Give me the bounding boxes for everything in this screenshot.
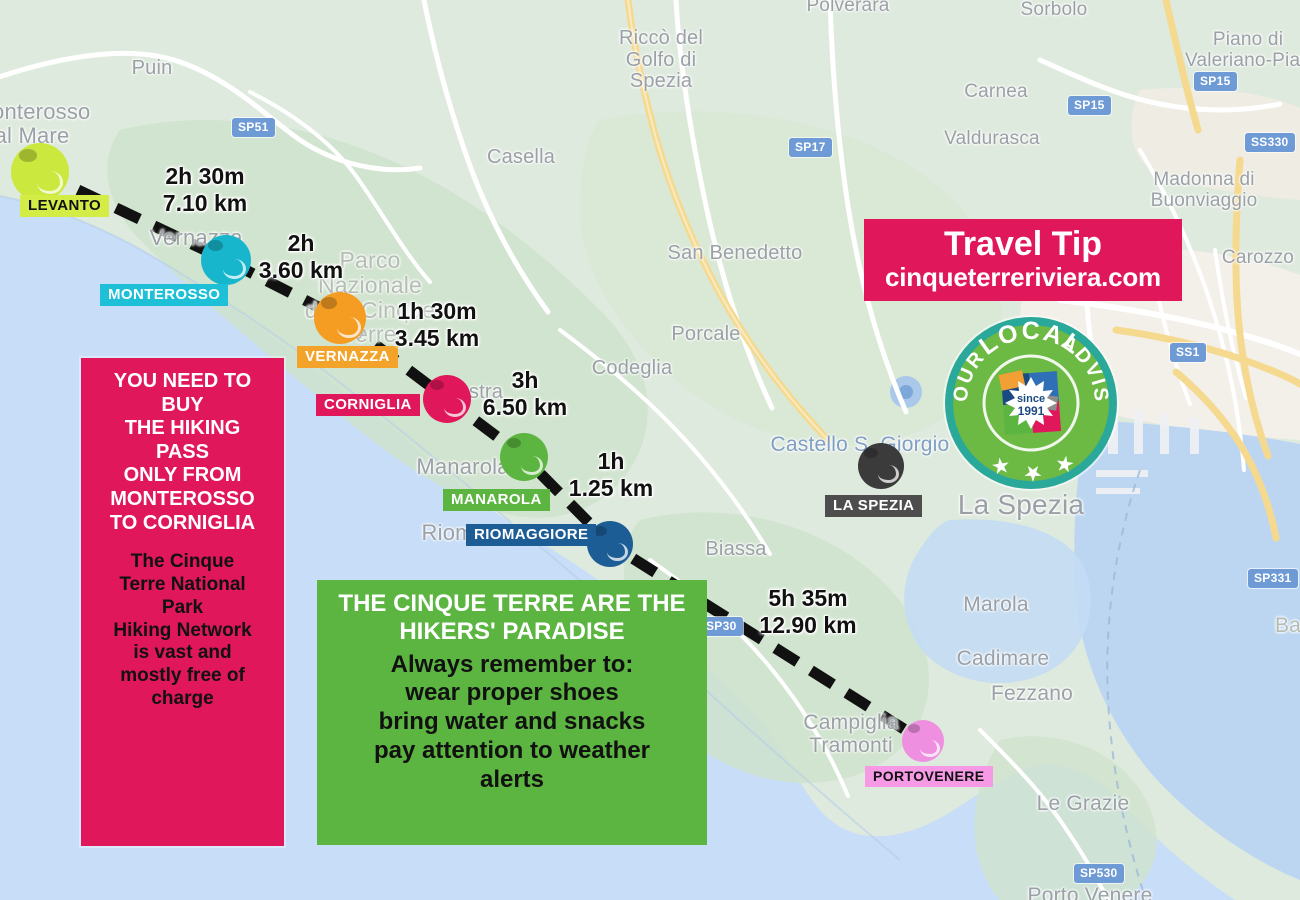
town-marker-portovenere[interactable] (902, 720, 944, 762)
town-marker-manarola[interactable] (500, 433, 548, 481)
road-shield: SP51 (232, 118, 275, 137)
leg-duration: 5h 35m (759, 585, 856, 612)
road-shield: SP530 (1074, 864, 1124, 883)
marker-shadow (321, 297, 337, 308)
town-plate-la-spezia[interactable]: LA SPEZIA (825, 495, 922, 517)
text-line: is vast and (87, 642, 278, 665)
leg-label-monterosso-to-vernazza: 2h3.60 km (259, 230, 343, 284)
text-line: bring water and snacks (325, 708, 699, 737)
leg-label-levanto-to-monterosso: 2h 30m7.10 km (163, 163, 247, 217)
hikers-paradise-body: Always remember to:wear proper shoesbrin… (325, 651, 699, 795)
travel-tip-banner: Travel Tip cinqueterreriviera.com (864, 219, 1182, 301)
marker-shadow (430, 380, 444, 391)
text-line: Always remember to: (325, 651, 699, 680)
text-line: YOU NEED TO (87, 370, 278, 394)
text-line: THE HIKING (87, 417, 278, 441)
hiking-pass-info-box: YOU NEED TOBUYTHE HIKINGPASSONLY FROMMON… (81, 358, 284, 846)
text-line: HIKERS' PARADISE (325, 618, 699, 646)
leg-label-riomaggiore-to-portovenere: 5h 35m12.90 km (759, 585, 856, 639)
text-line: Terre National (87, 574, 278, 597)
town-plate-corniglia[interactable]: CORNIGLIA (316, 394, 420, 416)
leg-duration: 2h 30m (163, 163, 247, 190)
road-shield: SS1 (1170, 343, 1206, 362)
leg-label-manarola-to-riomaggiore: 1h1.25 km (569, 448, 653, 502)
your-local-advisor-badge: LOCAL YOUR ADVISOR ★ ★ ★ since (941, 313, 1121, 493)
text-line: Park (87, 597, 278, 620)
marker-sheen (223, 259, 246, 279)
road-shield: SP17 (789, 138, 832, 157)
hiking-pass-body: The CinqueTerre NationalParkHiking Netwo… (87, 551, 278, 711)
text-line: BUY (87, 394, 278, 418)
town-marker-la-spezia[interactable] (858, 443, 904, 489)
road-shield: SP331 (1248, 569, 1298, 588)
town-plate-monterosso[interactable]: MONTEROSSO (100, 284, 228, 306)
marker-sheen (444, 398, 466, 417)
text-line: charge (87, 688, 278, 711)
leg-duration: 1h 30m (395, 298, 479, 325)
road-shield: SS330 (1245, 133, 1295, 152)
hiking-pass-headline: YOU NEED TOBUYTHE HIKINGPASSONLY FROMMON… (87, 370, 278, 535)
leg-distance: 3.45 km (395, 325, 479, 352)
marker-shadow (908, 724, 921, 733)
leg-distance: 12.90 km (759, 612, 856, 639)
text-line: The Cinque (87, 551, 278, 574)
leg-duration: 2h (259, 230, 343, 257)
leg-duration: 3h (483, 367, 567, 394)
text-line: pay attention to weather (325, 737, 699, 766)
marker-sheen (920, 740, 940, 757)
town-marker-corniglia[interactable] (423, 375, 471, 423)
text-line: alerts (325, 766, 699, 795)
town-plate-manarola[interactable]: MANAROLA (443, 489, 550, 511)
text-line: wear proper shoes (325, 679, 699, 708)
marker-sheen (37, 171, 63, 194)
text-line: mostly free of (87, 665, 278, 688)
hikers-paradise-headline: THE CINQUE TERRE ARE THEHIKERS' PARADISE (325, 590, 699, 647)
leg-duration: 1h (569, 448, 653, 475)
travel-tip-website: cinqueterreriviera.com (878, 263, 1168, 291)
town-plate-riomaggiore[interactable]: RIOMAGGIORE (466, 524, 596, 546)
text-line: THE CINQUE TERRE ARE THE (325, 590, 699, 618)
marker-shadow (19, 149, 36, 162)
text-line: ONLY FROM (87, 464, 278, 488)
marker-sheen (878, 465, 899, 484)
leg-label-vernazza-to-corniglia: 1h 30m3.45 km (395, 298, 479, 352)
marker-sheen (337, 317, 361, 338)
town-marker-monterosso[interactable] (201, 235, 251, 285)
leg-label-corniglia-to-manarola: 3h6.50 km (483, 367, 567, 421)
marker-sheen (607, 543, 628, 562)
town-marker-vernazza[interactable] (314, 292, 366, 344)
travel-tip-heading: Travel Tip (878, 225, 1168, 263)
town-plate-portovenere[interactable]: PORTOVENERE (865, 766, 993, 787)
town-plate-levanto[interactable]: LEVANTO (20, 195, 109, 217)
marker-shadow (864, 448, 878, 458)
leg-distance: 1.25 km (569, 475, 653, 502)
leg-distance: 7.10 km (163, 190, 247, 217)
text-line: PASS (87, 441, 278, 465)
text-line: Hiking Network (87, 620, 278, 643)
svg-text:1991: 1991 (1018, 404, 1045, 418)
marker-shadow (208, 240, 223, 251)
text-line: TO CORNIGLIA (87, 512, 278, 536)
text-line: MONTEROSSO (87, 488, 278, 512)
marker-sheen (521, 456, 543, 475)
road-shield: SP15 (1068, 96, 1111, 115)
map-canvas: PuinMonterosso al MareVernazzaCasellaRic… (0, 0, 1300, 900)
hikers-paradise-info-box: THE CINQUE TERRE ARE THEHIKERS' PARADISE… (317, 580, 707, 845)
town-marker-levanto[interactable] (11, 143, 69, 201)
leg-distance: 6.50 km (483, 394, 567, 421)
marker-shadow (507, 438, 521, 449)
leg-distance: 3.60 km (259, 257, 343, 284)
town-plate-vernazza[interactable]: VERNAZZA (297, 346, 398, 368)
road-shield: SP15 (1194, 72, 1237, 91)
